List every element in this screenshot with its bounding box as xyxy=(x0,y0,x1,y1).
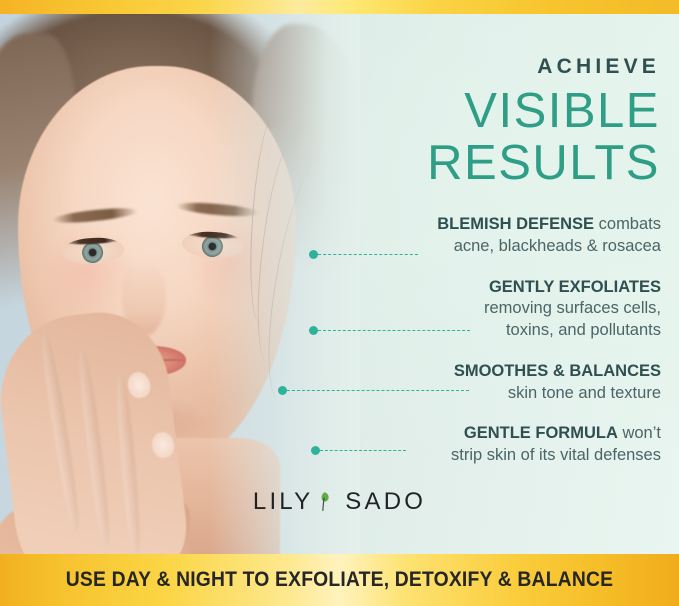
callout-dot-3 xyxy=(278,386,287,395)
benefit-line: GENTLE FORMULA won’t xyxy=(241,423,661,445)
benefit-item-blemish-defense: BLEMISH DEFENSE combats acne, blackheads… xyxy=(241,214,661,258)
benefit-light-text: won’t xyxy=(622,424,661,442)
iris-left xyxy=(82,241,104,263)
benefit-line: acne, blackheads & rosacea xyxy=(241,236,661,258)
benefit-item-smoothes-balances: SMOOTHES & BALANCES skin tone and textur… xyxy=(241,361,661,405)
benefit-strong-text: GENTLY EXFOLIATES xyxy=(489,278,661,296)
headline-line-1: VISIBLE xyxy=(427,85,660,137)
bottom-usage-text: USE DAY & NIGHT TO EXFOLIATE, DETOXIFY &… xyxy=(66,568,613,592)
benefit-item-gently-exfoliates: GENTLY EXFOLIATES removing surfaces cell… xyxy=(241,277,661,342)
callout-leader-1 xyxy=(318,254,418,255)
benefit-light-text: skin tone and texture xyxy=(508,384,661,402)
benefit-line: strip skin of its vital defenses xyxy=(241,445,661,467)
logo-word-sado: SADO xyxy=(345,488,426,516)
callout-leader-4 xyxy=(320,450,406,451)
benefit-list: BLEMISH DEFENSE combats acne, blackheads… xyxy=(241,214,661,486)
callout-leader-2 xyxy=(318,330,470,331)
top-accent-bar xyxy=(0,0,679,14)
headline-block: ACHIEVE VISIBLE RESULTS xyxy=(427,56,660,190)
benefit-light-text: toxins, and pollutants xyxy=(506,321,661,339)
benefit-strong-text: SMOOTHES & BALANCES xyxy=(454,362,661,380)
benefit-strong-text: GENTLE FORMULA xyxy=(464,424,618,442)
callout-dot-1 xyxy=(309,250,318,259)
benefit-line: removing surfaces cells, xyxy=(241,298,661,320)
benefit-light-text: acne, blackheads & rosacea xyxy=(454,237,661,255)
leaf-icon xyxy=(316,489,332,515)
callout-dot-4 xyxy=(311,446,320,455)
callout-dot-2 xyxy=(309,326,318,335)
benefit-strong-text: BLEMISH DEFENSE xyxy=(437,215,594,233)
benefit-item-gentle-formula: GENTLE FORMULA won’t strip skin of its v… xyxy=(241,423,661,467)
headline-line-2: RESULTS xyxy=(427,137,660,189)
benefit-line: GENTLY EXFOLIATES xyxy=(241,277,661,299)
bottom-usage-banner: USE DAY & NIGHT TO EXFOLIATE, DETOXIFY &… xyxy=(0,554,679,606)
benefit-line: SMOOTHES & BALANCES xyxy=(241,361,661,383)
callout-leader-3 xyxy=(287,390,469,391)
benefit-line: skin tone and texture xyxy=(241,383,661,405)
headline-eyebrow: ACHIEVE xyxy=(427,56,660,77)
benefit-light-text: strip skin of its vital defenses xyxy=(451,446,661,464)
benefit-line: BLEMISH DEFENSE combats xyxy=(241,214,661,236)
benefit-light-text: combats xyxy=(599,215,661,233)
logo-word-lily: LILY xyxy=(253,488,313,516)
product-marketing-poster: ACHIEVE VISIBLE RESULTS BLEMISH DEFENSE … xyxy=(0,0,679,606)
benefit-light-text: removing surfaces cells, xyxy=(484,299,661,317)
brand-logo: LILY SADO xyxy=(0,488,679,516)
